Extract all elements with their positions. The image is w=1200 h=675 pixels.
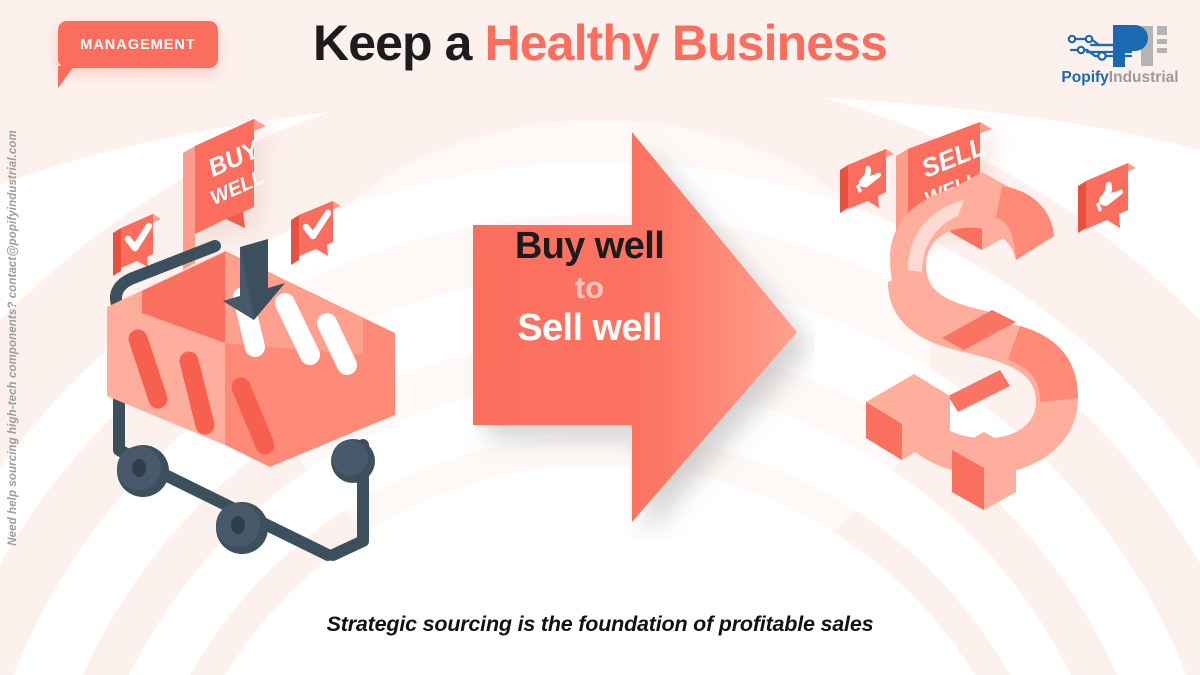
brand-name-secondary: Industrial [1109, 69, 1179, 86]
sell-well-illustration: SELL WELL [830, 120, 1180, 575]
side-contact-note: Need help sourcing high-tech components?… [0, 0, 28, 675]
buy-well-illustration: BUY WELL [95, 115, 465, 575]
thumbs-up-bubble-icon-left [840, 149, 894, 213]
page-title: Keep a Healthy Business [0, 16, 1200, 71]
arrow-message-line1: Buy well [477, 225, 702, 269]
arrow-message-line2: to [477, 269, 702, 308]
footer-tagline: Strategic sourcing is the foundation of … [0, 612, 1200, 637]
brand-logo[interactable]: PopifyIndustrial [1056, 22, 1184, 86]
shopping-cart-wheels [117, 439, 375, 554]
arrow-message-line3: Sell well [477, 307, 702, 351]
brand-logo-wordmark: PopifyIndustrial [1056, 70, 1184, 86]
infographic-canvas: MANAGEMENT Keep a Healthy Business [0, 0, 1200, 675]
brand-name-primary: Popify [1061, 69, 1108, 86]
page-title-accent: Healthy Business [485, 15, 887, 71]
arrow-message: Buy well to Sell well [477, 225, 702, 351]
thumbs-up-bubble-icon-right [1078, 163, 1136, 233]
side-contact-note-text: Need help sourcing high-tech components?… [7, 130, 19, 546]
popify-circuit-p-icon [1061, 22, 1179, 68]
check-bubble-icon-right [291, 201, 341, 265]
page-title-plain: Keep a [313, 15, 485, 71]
buy-to-sell-arrow: Buy well to Sell well [455, 120, 815, 540]
